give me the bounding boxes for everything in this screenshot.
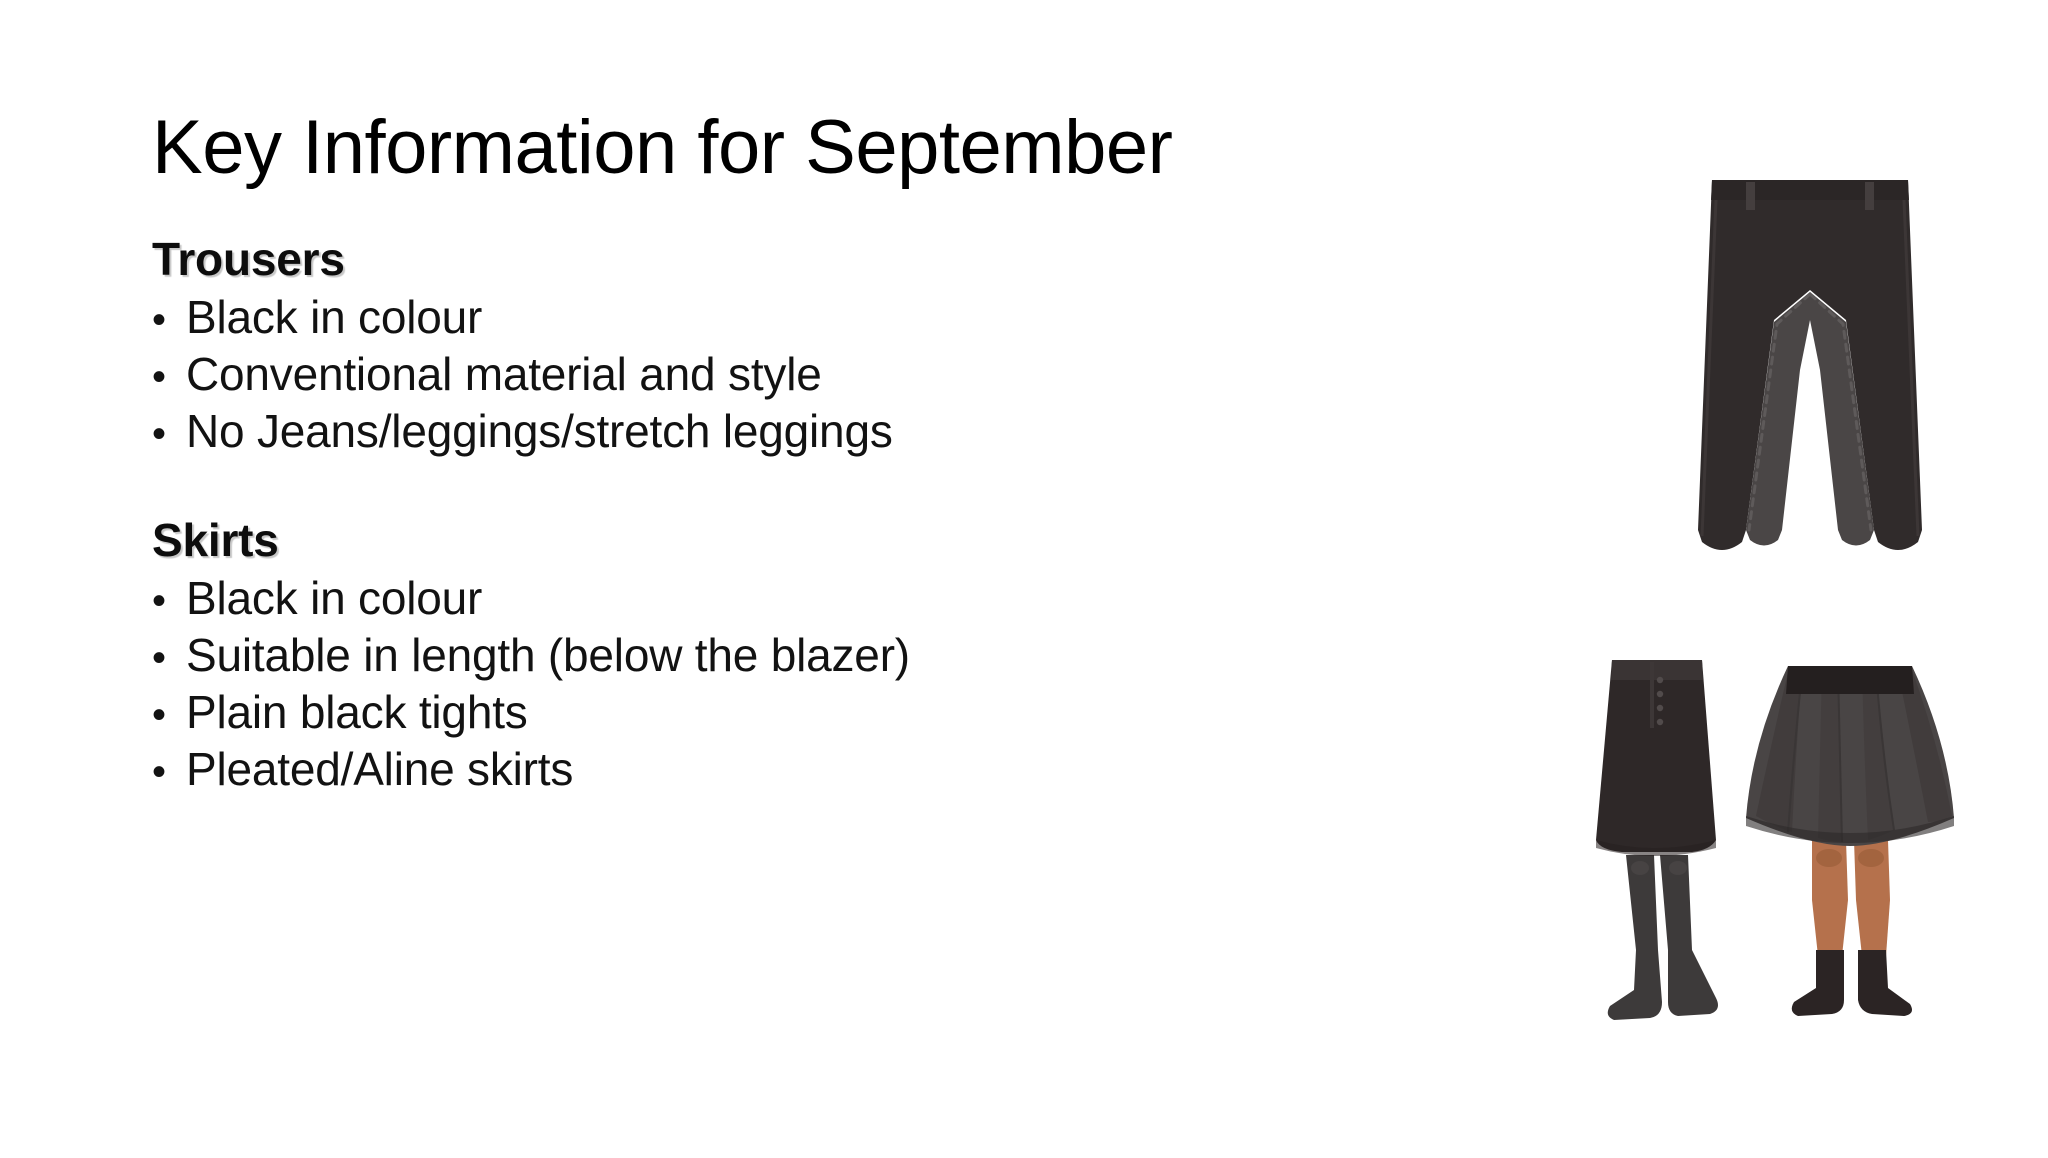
bullet-text: Pleated/Aline skirts bbox=[186, 741, 573, 798]
bullet-point-icon: • bbox=[152, 577, 186, 627]
trousers-icon bbox=[1660, 170, 1960, 590]
bullet-text: Black in colour bbox=[186, 570, 482, 627]
bullet-list-trousers: • Black in colour • Conventional materia… bbox=[152, 289, 1412, 460]
section-heading-trousers: Trousers bbox=[152, 231, 1412, 287]
bullet-text: No Jeans/leggings/stretch leggings bbox=[186, 403, 893, 460]
aline-skirt-figure bbox=[1596, 660, 1718, 1020]
bullet-point-icon: • bbox=[152, 353, 186, 403]
section-skirts: Skirts • Black in colour • Suitable in l… bbox=[152, 512, 1412, 798]
bullet-point-icon: • bbox=[152, 691, 186, 741]
list-item: • Pleated/Aline skirts bbox=[152, 741, 1412, 798]
bullet-text: Suitable in length (below the blazer) bbox=[186, 627, 910, 684]
list-item: • Conventional material and style bbox=[152, 346, 1412, 403]
text-content-column: Key Information for September Trousers •… bbox=[152, 108, 1412, 798]
bullet-list-skirts: • Black in colour • Suitable in length (… bbox=[152, 570, 1412, 798]
list-item: • Black in colour bbox=[152, 570, 1412, 627]
list-item: • Suitable in length (below the blazer) bbox=[152, 627, 1412, 684]
list-item: • Plain black tights bbox=[152, 684, 1412, 741]
bullet-point-icon: • bbox=[152, 634, 186, 684]
pleated-skirt-figure bbox=[1746, 666, 1954, 1016]
bullet-point-icon: • bbox=[152, 748, 186, 798]
list-item: • No Jeans/leggings/stretch leggings bbox=[152, 403, 1412, 460]
section-heading-skirts: Skirts bbox=[152, 512, 1412, 568]
bullet-text: Conventional material and style bbox=[186, 346, 822, 403]
bullet-point-icon: • bbox=[152, 296, 186, 346]
slide-canvas: Key Information for September Trousers •… bbox=[0, 0, 2048, 1158]
bullet-point-icon: • bbox=[152, 410, 186, 460]
list-item: • Black in colour bbox=[152, 289, 1412, 346]
trousers-illustration bbox=[1660, 170, 1960, 590]
bullet-text: Black in colour bbox=[186, 289, 482, 346]
illustration-column bbox=[1540, 170, 1980, 1050]
section-trousers: Trousers • Black in colour • Conventiona… bbox=[152, 231, 1412, 460]
bullet-text: Plain black tights bbox=[186, 684, 528, 741]
page-title: Key Information for September bbox=[152, 108, 1412, 189]
skirts-illustration bbox=[1550, 650, 1980, 1060]
skirts-icon bbox=[1550, 650, 1980, 1060]
